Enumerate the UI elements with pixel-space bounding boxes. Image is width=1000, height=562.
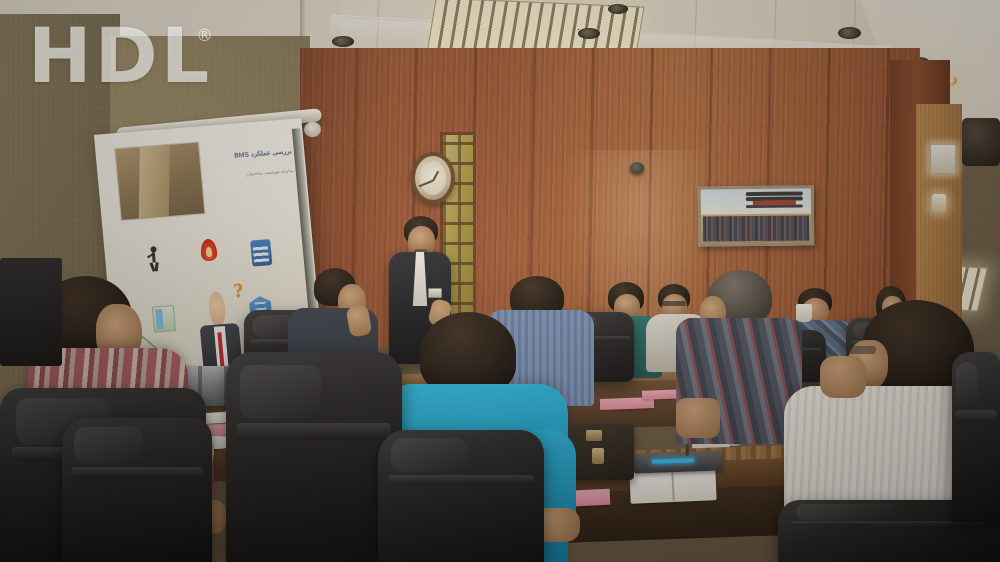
hdl-watermark: HDL xyxy=(28,18,212,94)
downlight-icon xyxy=(608,5,609,6)
slide-title: بررسی عملکرد BMS xyxy=(184,147,293,164)
wall-speaker-icon xyxy=(962,118,1000,166)
ceiling-camera-icon xyxy=(630,162,644,174)
downlight-icon xyxy=(578,29,579,30)
black-leather-chair[interactable] xyxy=(378,430,544,562)
alarm-person-icon xyxy=(142,246,166,274)
briefcase-latch xyxy=(586,430,602,441)
question-mark: ? xyxy=(232,280,244,304)
downlight-icon xyxy=(578,28,600,39)
wall-panel-icon[interactable] xyxy=(930,144,956,174)
framed-photo xyxy=(698,185,815,246)
photo-scene: بررسی عملکرد BMS سامانه هوشمند ساختمان ?… xyxy=(0,0,1000,562)
registered-mark-icon: ® xyxy=(196,26,213,46)
glasses-icon xyxy=(846,346,876,354)
wall-lamp-icon xyxy=(932,194,946,212)
elevator-icon xyxy=(250,240,272,267)
downlight-icon xyxy=(608,4,628,14)
attendee-arm xyxy=(820,356,866,398)
attendee-arm xyxy=(676,398,720,438)
black-leather-chair[interactable] xyxy=(62,418,212,562)
black-leather-chair[interactable] xyxy=(952,352,1000,522)
glasses-icon xyxy=(662,301,686,306)
monitor-back xyxy=(0,258,62,366)
briefcase-lock xyxy=(592,448,604,464)
door-icon xyxy=(151,305,175,333)
flame-icon xyxy=(200,239,218,262)
downlight-icon xyxy=(332,36,354,47)
attendee-head xyxy=(420,312,516,394)
black-leather-chair[interactable] xyxy=(226,352,402,562)
presenter-badge xyxy=(428,288,442,298)
paper-cup xyxy=(796,304,812,322)
downlight-icon xyxy=(838,27,861,39)
